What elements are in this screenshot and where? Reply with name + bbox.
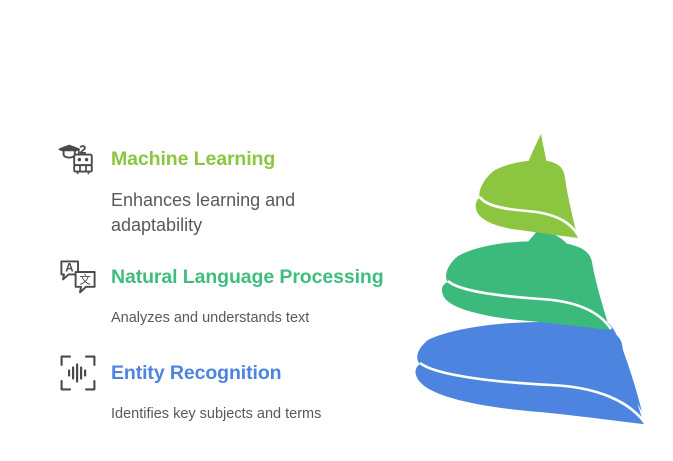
feature-title: Natural Language Processing <box>111 266 384 289</box>
spiral-band-natural-language-processing <box>442 230 611 330</box>
feature-item-entity-recognition[interactable]: Entity Recognition Identifies key subjec… <box>56 351 386 424</box>
three-band-spiral-cone-graphic <box>398 112 673 442</box>
feature-description: Identifies key subjects and terms <box>111 404 386 424</box>
feature-list: Machine Learning Enhances learning and a… <box>0 0 400 461</box>
scan-waveform-icon <box>56 351 100 395</box>
feature-header: Entity Recognition <box>56 351 386 395</box>
feature-header: Machine Learning <box>56 137 386 181</box>
graduation-cap-robot-icon <box>56 137 100 181</box>
feature-description: Analyzes and understands text <box>111 308 386 328</box>
feature-item-machine-learning[interactable]: Machine Learning Enhances learning and a… <box>56 137 386 238</box>
feature-header: A 文 Natural Language Processing <box>56 255 386 299</box>
feature-title: Machine Learning <box>111 148 275 171</box>
svg-text:A: A <box>65 263 73 275</box>
feature-item-natural-language-processing[interactable]: A 文 Natural Language Processing Analyzes… <box>56 255 386 328</box>
spiral-band-machine-learning <box>476 134 579 238</box>
svg-text:文: 文 <box>79 272 91 286</box>
feature-description: Enhances learning and adaptability <box>111 188 326 238</box>
translate-speech-bubbles-icon: A 文 <box>56 255 100 299</box>
feature-title: Entity Recognition <box>111 362 281 385</box>
slide-canvas: Machine Learning Enhances learning and a… <box>0 0 673 461</box>
